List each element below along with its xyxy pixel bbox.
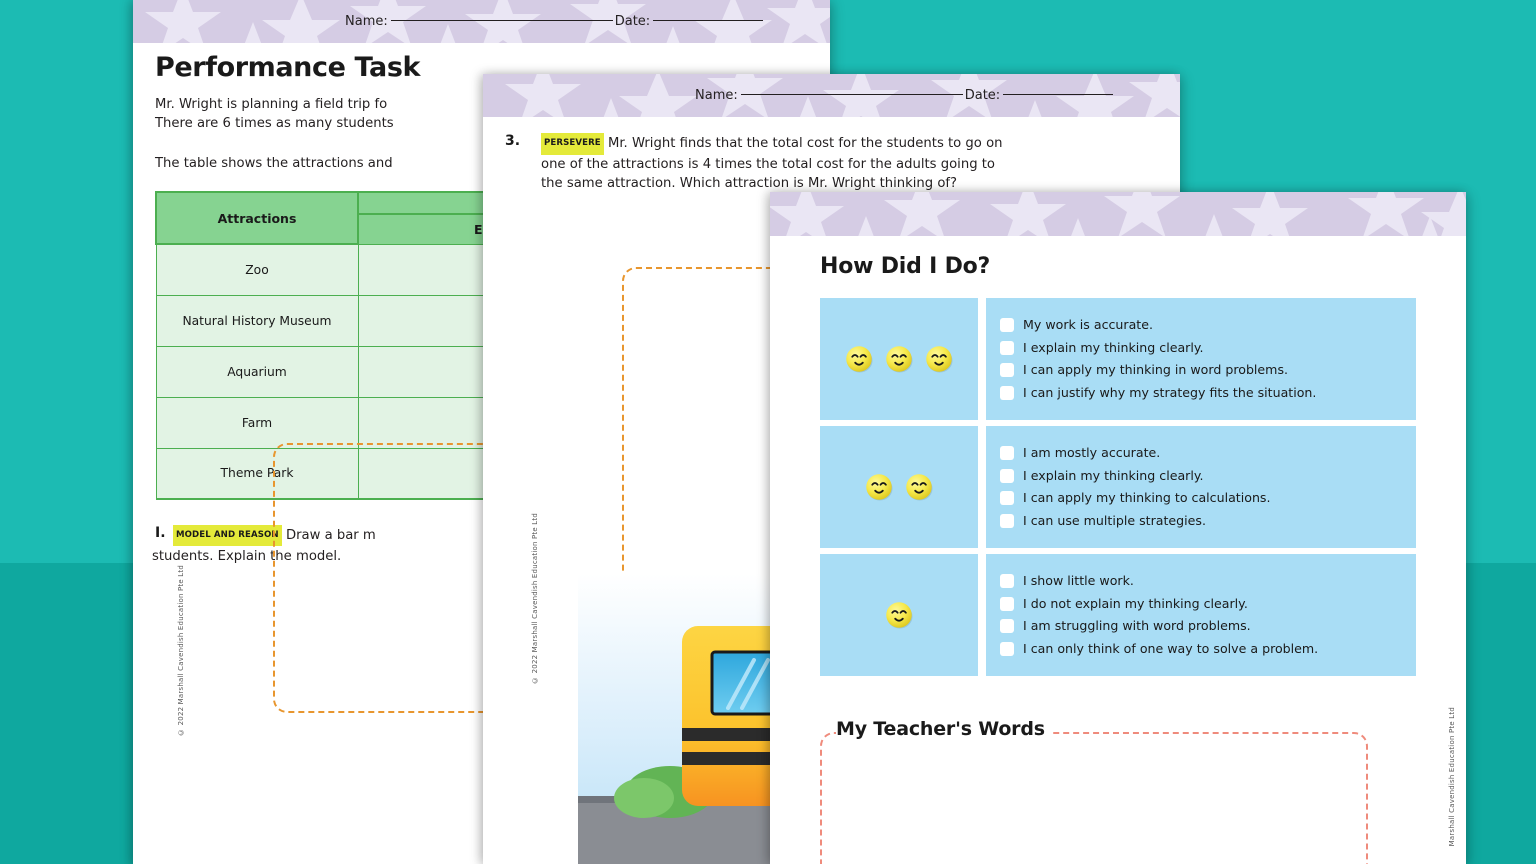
chip-persevere: PERSEVERE [541,133,604,155]
rubric-row: My work is accurate. I explain my thinki… [820,298,1416,420]
smiley-face-icon [904,472,934,502]
rubric-item-label: I am mostly accurate. [1023,442,1160,465]
star-header-band-3 [770,192,1466,236]
rubric-item-label: I can use multiple strategies. [1023,510,1206,533]
rubric-item-label: I can apply my thinking in word problems… [1023,359,1288,382]
rubric-faces-cell [820,554,978,676]
name-label-2: Name: [695,88,738,103]
rubric-item[interactable]: I do not explain my thinking clearly. [1000,593,1416,616]
checkbox[interactable] [1000,574,1014,588]
smiley-face-icon [844,344,874,374]
checkbox[interactable] [1000,514,1014,528]
name-date-row-1: Name: Date: [133,0,830,43]
name-date-row-2: Name: Date: [483,74,1180,117]
rubric-item[interactable]: I can apply my thinking in word problems… [1000,359,1416,382]
rubric-faces-cell [820,298,978,420]
star-header-band-2: Name: Date: [483,74,1180,117]
rubric-item[interactable]: I can apply my thinking to calculations. [1000,487,1416,510]
name-rule-1[interactable] [391,20,613,21]
rubric-checklist-cell: I show little work. I do not explain my … [986,554,1416,676]
copyright-notice-1: © 2022 Marshall Cavendish Education Pte … [177,565,185,736]
date-rule-2[interactable] [1003,94,1113,95]
rubric-item-label: I can apply my thinking to calculations. [1023,487,1271,510]
checkbox[interactable] [1000,446,1014,460]
self-assessment-rubric: My work is accurate. I explain my thinki… [820,298,1416,676]
rubric-checklist-cell: My work is accurate. I explain my thinki… [986,298,1416,420]
question-3-number: 3. [505,133,541,149]
rubric-item[interactable]: I explain my thinking clearly. [1000,465,1416,488]
copyright-notice-2: © 2022 Marshall Cavendish Education Pte … [531,513,539,684]
rubric-item-label: I explain my thinking clearly. [1023,337,1204,360]
checkbox[interactable] [1000,363,1014,377]
rubric-item-label: I am struggling with word problems. [1023,615,1251,638]
star-header-band-1: Name: Date: [133,0,830,43]
chip-model-and-reason: MODEL AND REASON [173,525,282,546]
date-label-1: Date: [615,14,650,29]
rubric-item-label: I show little work. [1023,570,1134,593]
rubric-item[interactable]: I am struggling with word problems. [1000,615,1416,638]
rubric-item[interactable]: I can only think of one way to solve a p… [1000,638,1416,661]
smiley-face-icon [884,600,914,630]
how-did-i-do-title: How Did I Do? [820,254,1416,279]
worksheet-how-did-i-do[interactable]: How Did I Do? [770,192,1466,864]
rubric-item-label: I do not explain my thinking clearly. [1023,593,1248,616]
table-cell-attraction: Aquarium [156,346,358,397]
smiley-face-icon [864,472,894,502]
table-col-attractions-header: Attractions [156,192,358,244]
name-rule-2[interactable] [741,94,963,95]
date-rule-1[interactable] [653,20,763,21]
rubric-item-label: I can justify why my strategy fits the s… [1023,382,1316,405]
rubric-item-label: My work is accurate. [1023,314,1153,337]
question-1-number: I. [155,525,173,541]
teacher-comment-box[interactable] [820,732,1368,864]
my-teachers-words-title: My Teacher's Words [836,718,1053,740]
rubric-checklist-cell: I am mostly accurate. I explain my think… [986,426,1416,548]
rubric-row: I show little work. I do not explain my … [820,554,1416,676]
rubric-row: I am mostly accurate. I explain my think… [820,426,1416,548]
question-3-text: Mr. Wright finds that the total cost for… [541,136,1003,191]
rubric-item[interactable]: I can justify why my strategy fits the s… [1000,382,1416,405]
rubric-item[interactable]: I explain my thinking clearly. [1000,337,1416,360]
question-3-block: 3. PERSEVERE Mr. Wright finds that the t… [505,133,1158,194]
rubric-item[interactable]: I show little work. [1000,570,1416,593]
smiley-face-icon [924,344,954,374]
rubric-item-label: I explain my thinking clearly. [1023,465,1204,488]
rubric-item-label: I can only think of one way to solve a p… [1023,638,1318,661]
rubric-faces-cell [820,426,978,548]
rubric-item[interactable]: I can use multiple strategies. [1000,510,1416,533]
checkbox[interactable] [1000,386,1014,400]
checkbox[interactable] [1000,318,1014,332]
checkbox[interactable] [1000,619,1014,633]
checkbox[interactable] [1000,469,1014,483]
checkbox[interactable] [1000,642,1014,656]
checkbox[interactable] [1000,491,1014,505]
table-cell-attraction: Zoo [156,244,358,295]
checkbox[interactable] [1000,341,1014,355]
rubric-item[interactable]: I am mostly accurate. [1000,442,1416,465]
name-label-1: Name: [345,14,388,29]
screenshot-canvas: Name: Date: Performance Task Mr. Wright … [0,0,1536,864]
date-label-2: Date: [965,88,1000,103]
table-cell-attraction: Natural History Museum [156,295,358,346]
rubric-item[interactable]: My work is accurate. [1000,314,1416,337]
smiley-face-icon [884,344,914,374]
copyright-notice-3: Marshall Cavendish Education Pte Ltd [1448,707,1456,846]
checkbox[interactable] [1000,597,1014,611]
my-teachers-words-section: My Teacher's Words [820,718,1416,864]
table-cell-attraction: Farm [156,397,358,448]
